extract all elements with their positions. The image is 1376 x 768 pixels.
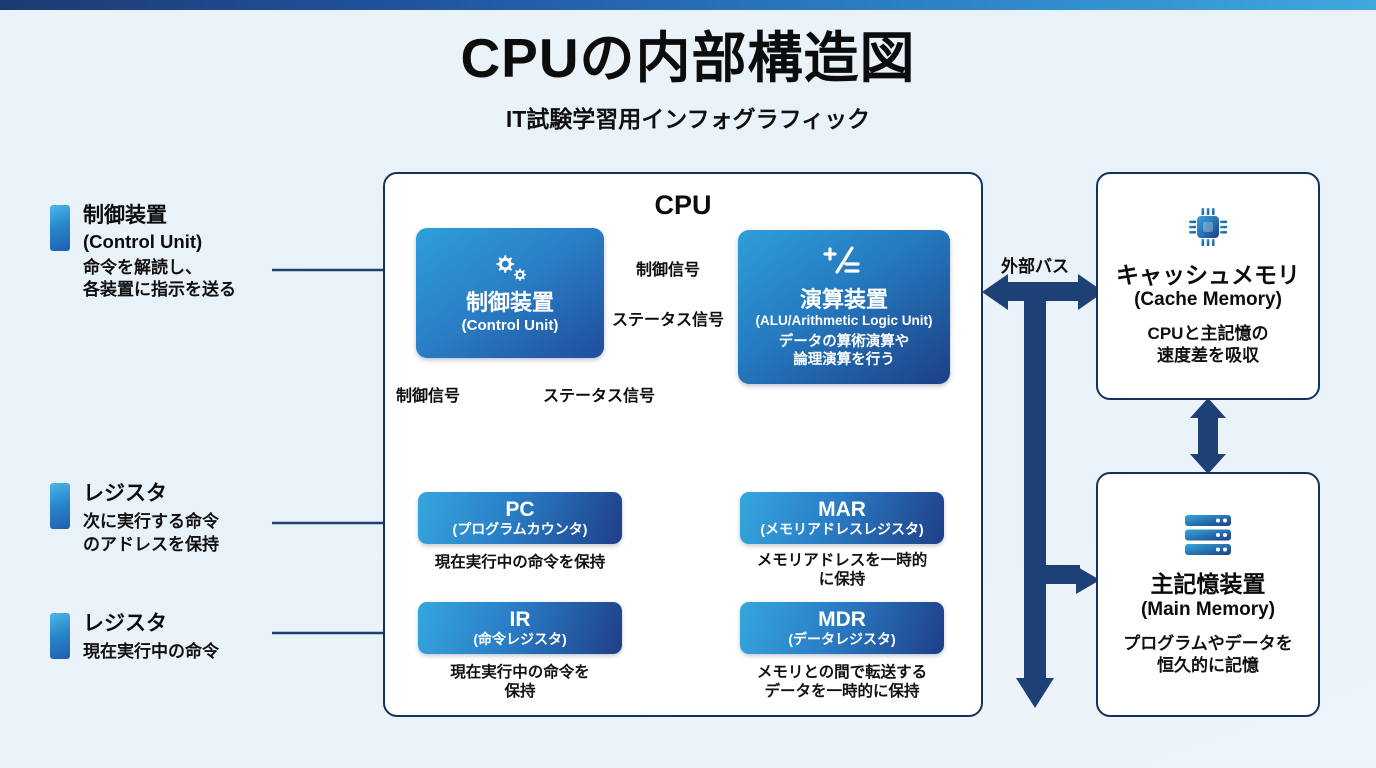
cache-memory-en: (Cache Memory) xyxy=(1134,289,1282,311)
server-stack-icon xyxy=(1180,512,1236,563)
annotation-register-ir: レジスタ 現在実行中の命令 xyxy=(50,611,219,664)
annotation-title: 制御装置 xyxy=(83,203,236,230)
annotation-desc: 現在実行中の命令 xyxy=(83,641,219,664)
register-box-ir: IR (命令レジスタ) xyxy=(418,602,622,654)
control-unit-box: 制御装置 (Control Unit) xyxy=(416,228,604,358)
signal-label-status-from-alu: ステータス信号 xyxy=(612,306,724,330)
register-desc-pc: 現在実行中の命令を保持 xyxy=(405,553,635,572)
arrow-cache-main-memory xyxy=(1190,398,1226,474)
annotation-swatch-icon xyxy=(50,205,70,251)
signal-label-control-to-bus: 制御信号 xyxy=(396,382,460,406)
annotation-register-pc: レジスタ 次に実行する命令 のアドレスを保持 xyxy=(50,481,219,556)
annotation-desc: 命令を解読し、 各装置に指示を送る xyxy=(83,257,236,303)
control-unit-name: 制御装置 xyxy=(466,291,554,316)
annotation-title: レジスタ xyxy=(83,481,219,508)
register-name: MDR xyxy=(818,609,866,630)
annotation-title: レジスタ xyxy=(83,611,219,638)
signal-label-status-from-bus: ステータス信号 xyxy=(543,382,655,406)
register-sub: (命令レジスタ) xyxy=(473,632,566,647)
annotation-desc: 次に実行する命令 のアドレスを保持 xyxy=(83,511,219,557)
register-box-pc: PC (プログラムカウンタ) xyxy=(418,492,622,544)
annotation-subtitle: (Control Unit) xyxy=(83,230,236,254)
cache-memory-desc: CPUと主記憶の 速度差を吸収 xyxy=(1148,323,1269,367)
control-unit-en: (Control Unit) xyxy=(462,317,559,334)
page-subtitle: IT試験学習用インフォグラフィック xyxy=(0,100,1376,134)
gears-icon xyxy=(488,252,532,287)
cpu-label: CPU xyxy=(383,190,983,221)
register-desc-mar: メモリアドレスを一時的 に保持 xyxy=(727,551,957,590)
register-name: MAR xyxy=(818,499,866,520)
register-sub: (プログラムカウンタ) xyxy=(453,522,588,537)
register-box-mdr: MDR (データレジスタ) xyxy=(740,602,944,654)
alu-en: (ALU/Arithmetic Logic Unit) xyxy=(756,313,933,328)
external-bus-label: 外部バス xyxy=(1001,252,1069,277)
cache-memory-name: キャッシュメモリ xyxy=(1116,262,1300,288)
cpu-chip-icon xyxy=(1186,205,1230,254)
register-sub: (メモリアドレスレジスタ) xyxy=(760,522,923,537)
main-memory-name: 主記憶装置 xyxy=(1151,571,1266,597)
register-name: PC xyxy=(505,499,534,520)
signal-label-control-to-alu: 制御信号 xyxy=(636,256,700,280)
alu-name: 演算装置 xyxy=(800,288,888,313)
cache-memory-card: キャッシュメモリ (Cache Memory) CPUと主記憶の 速度差を吸収 xyxy=(1096,172,1320,400)
header: CPUの内部構造図 IT試験学習用インフォグラフィック xyxy=(0,28,1376,134)
register-desc-mdr: メモリとの間で転送する データを一時的に保持 xyxy=(727,663,957,702)
top-accent-bar xyxy=(0,0,1376,10)
register-desc-ir: 現在実行中の命令を 保持 xyxy=(405,663,635,702)
main-memory-card: 主記憶装置 (Main Memory) プログラムやデータを 恒久的に記憶 xyxy=(1096,472,1320,717)
annotation-control-unit: 制御装置 (Control Unit) 命令を解読し、 各装置に指示を送る xyxy=(50,203,236,302)
alu-box: 演算装置 (ALU/Arithmetic Logic Unit) データの算術演… xyxy=(738,230,950,384)
alu-desc: データの算術演算や 論理演算を行う xyxy=(779,333,910,369)
page-title: CPUの内部構造図 xyxy=(0,28,1376,90)
main-memory-en: (Main Memory) xyxy=(1141,599,1275,621)
internal-bus-label: 内部バス xyxy=(604,430,688,460)
math-operations-icon xyxy=(818,245,870,284)
annotation-swatch-icon xyxy=(50,613,70,659)
annotation-swatch-icon xyxy=(50,483,70,529)
register-sub: (データレジスタ) xyxy=(788,632,895,647)
register-name: IR xyxy=(510,609,531,630)
main-memory-desc: プログラムやデータを 恒久的に記憶 xyxy=(1123,633,1293,677)
register-box-mar: MAR (メモリアドレスレジスタ) xyxy=(740,492,944,544)
external-bus xyxy=(982,274,1104,708)
